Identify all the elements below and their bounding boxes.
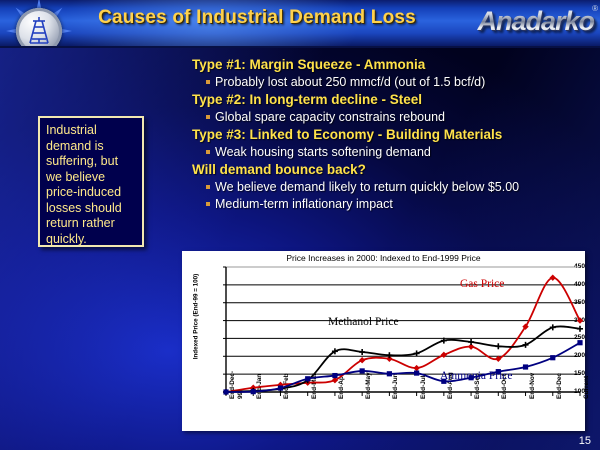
bullet-text: Probably lost about 250 mmcf/d (out of 1… [215, 75, 485, 89]
bullet-square-icon [206, 115, 210, 119]
derrick-compass-icon [2, 0, 76, 48]
bullet-square-icon [206, 202, 210, 206]
bullet-text: Global spare capacity constrains rebound [215, 110, 445, 124]
bullet-text: We believe demand likely to return quick… [215, 180, 519, 194]
bullet-square-icon [206, 150, 210, 154]
anadarko-logo: Anadarko [477, 4, 594, 38]
bullet-text: Medium-term inflationary impact [215, 197, 393, 211]
chart-series-label: Ammonia Price [440, 370, 513, 382]
bullet-body: Type #1: Margin Squeeze - Ammonia Probab… [192, 56, 592, 213]
price-index-chart: Price Increases in 2000: Indexed to End-… [182, 251, 585, 431]
bullet-item: Medium-term inflationary impact [206, 196, 592, 213]
bullet-square-icon [206, 80, 210, 84]
slide: Causes of Industrial Demand Loss Anadark… [0, 0, 600, 450]
registered-trademark-icon: ® [592, 4, 598, 13]
bullet-item: Global spare capacity constrains rebound [206, 109, 592, 126]
bullet-heading: Will demand bounce back? [192, 161, 592, 179]
bullet-heading: Type #1: Margin Squeeze - Ammonia [192, 56, 592, 74]
chart-plot-area [182, 251, 585, 431]
bullet-heading: Type #3: Linked to Economy - Building Ma… [192, 126, 592, 144]
oil-derrick-icon [26, 16, 52, 46]
bullet-item: Probably lost about 250 mmcf/d (out of 1… [206, 74, 592, 91]
bullet-square-icon [206, 185, 210, 189]
callout-box: Industrial demand is suffering, but we b… [38, 116, 144, 247]
chart-series-label: Methanol Price [328, 316, 399, 328]
bullet-heading: Type #2: In long-term decline - Steel [192, 91, 592, 109]
page-title: Causes of Industrial Demand Loss [92, 7, 422, 29]
bullet-item: Weak housing starts softening demand [206, 144, 592, 161]
slide-number: 15 [579, 435, 591, 447]
chart-series-label: Gas Price [460, 278, 504, 290]
slide-header: Causes of Industrial Demand Loss Anadark… [0, 0, 600, 48]
bullet-item: We believe demand likely to return quick… [206, 179, 592, 196]
bullet-text: Weak housing starts softening demand [215, 145, 431, 159]
